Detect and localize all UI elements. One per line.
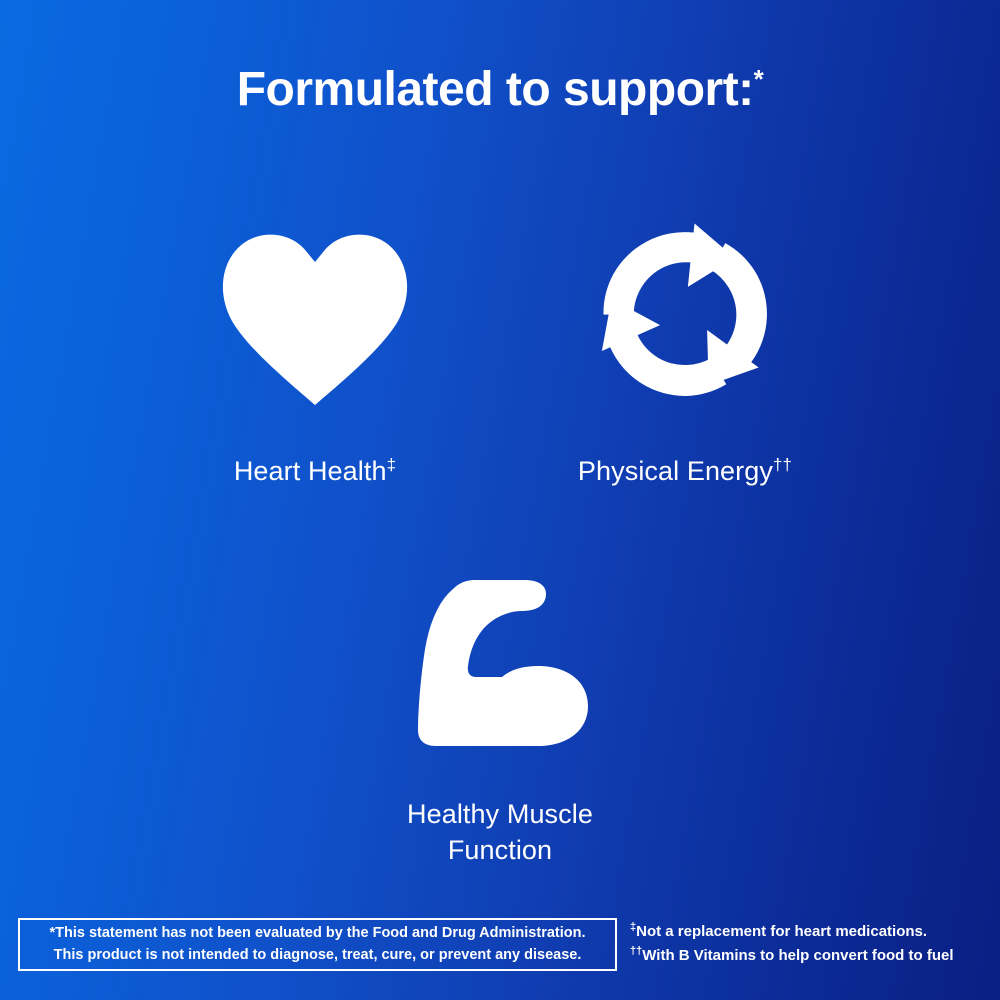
footnote-energy-text: With B Vitamins to help convert food to …	[642, 947, 953, 964]
benefit-healthy-muscle-function-label-line1: Healthy Muscle	[340, 796, 660, 832]
footnote-energy: ††With B Vitamins to help convert food t…	[630, 944, 990, 968]
footnote-heart: ‡Not a replacement for heart medications…	[630, 920, 990, 944]
page-title-text: Formulated to support:	[237, 63, 754, 116]
footnote-heart-text: Not a replacement for heart medications.	[636, 923, 927, 940]
benefit-heart-health-label-text: Heart Health	[234, 456, 387, 486]
benefit-physical-energy: Physical Energy††	[525, 215, 845, 489]
benefit-healthy-muscle-function-art	[340, 568, 660, 746]
fda-disclaimer-line-1: *This statement has not been evaluated b…	[49, 923, 585, 944]
benefit-healthy-muscle-function-label: Healthy Muscle Function	[340, 796, 660, 869]
page-title-footnote-mark: *	[754, 64, 764, 94]
heart-icon	[220, 229, 410, 405]
benefit-healthy-muscle-function: Healthy Muscle Function	[340, 568, 660, 869]
page-title: Formulated to support:*	[0, 64, 1000, 117]
benefit-physical-energy-footnote-mark: ††	[773, 455, 792, 474]
benefit-heart-health-art	[155, 215, 475, 405]
energy-cycle-icon	[594, 223, 776, 405]
benefit-heart-health-label: Heart Health‡	[155, 453, 475, 489]
fda-disclaimer-line-2: This product is not intended to diagnose…	[49, 945, 585, 966]
benefit-physical-energy-art	[525, 215, 845, 405]
benefit-physical-energy-label: Physical Energy††	[525, 453, 845, 489]
footnote-energy-mark: ††	[630, 945, 642, 957]
fda-disclaimer-box: *This statement has not been evaluated b…	[18, 918, 617, 971]
flexed-bicep-icon	[410, 580, 590, 746]
benefit-heart-health-footnote-mark: ‡	[387, 455, 397, 474]
benefit-physical-energy-label-text: Physical Energy	[578, 456, 773, 486]
fda-disclaimer-text: *This statement has not been evaluated b…	[49, 923, 585, 965]
footer: *This statement has not been evaluated b…	[0, 908, 1000, 1000]
benefit-heart-health: Heart Health‡	[155, 215, 475, 489]
footnotes: ‡Not a replacement for heart medications…	[630, 920, 990, 968]
benefit-healthy-muscle-function-label-line2: Function	[340, 832, 660, 868]
promo-poster: Formulated to support:* Heart Health‡	[0, 0, 1000, 1000]
